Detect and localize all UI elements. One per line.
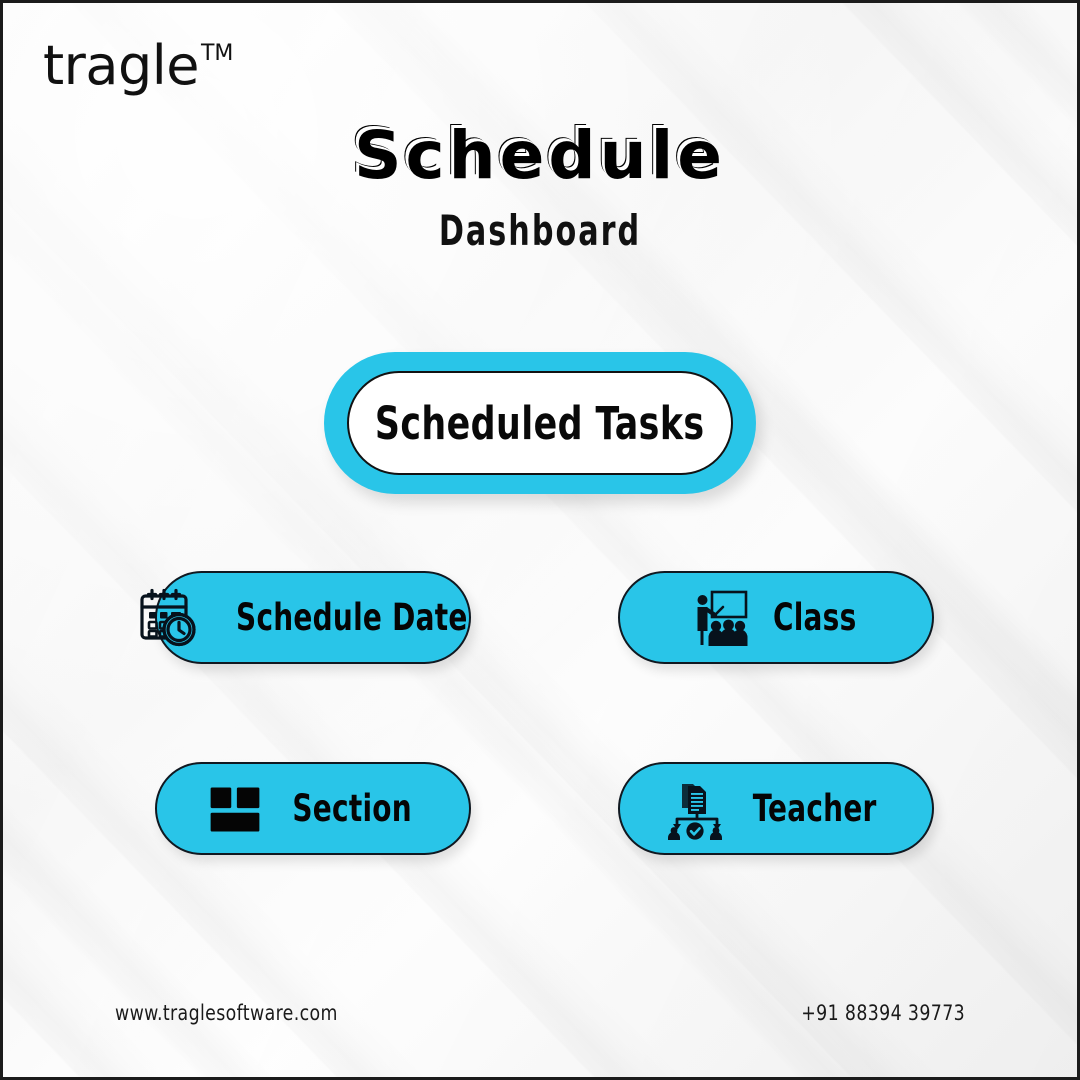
calendar-clock-icon — [136, 586, 200, 650]
option-label-section: Section — [292, 787, 412, 830]
scheduled-tasks-banner-inner: Scheduled Tasks — [347, 371, 733, 475]
poster-canvas: tragle TM Schedule Dashboard Scheduled T… — [0, 0, 1080, 1080]
option-label-schedule-date: Schedule Date — [236, 596, 467, 639]
scheduled-tasks-label: Scheduled Tasks — [375, 397, 705, 450]
brand-name: tragle — [43, 39, 199, 93]
page-title: Schedule — [3, 121, 1077, 190]
layout-grid-icon — [203, 777, 267, 841]
option-label-teacher: Teacher — [753, 787, 877, 830]
option-label-class: Class — [773, 596, 857, 639]
assignment-people-icon — [663, 777, 727, 841]
footer-phone[interactable]: +91 88394 39773 — [801, 1001, 965, 1025]
option-pill-grid: Schedule Date — [155, 571, 933, 855]
scheduled-tasks-banner[interactable]: Scheduled Tasks — [324, 352, 756, 494]
option-pill-section[interactable]: Section — [155, 762, 471, 855]
title-block: Schedule Dashboard — [3, 121, 1077, 255]
option-pill-teacher[interactable]: Teacher — [618, 762, 934, 855]
footer: www.traglesoftware.com +91 88394 39773 — [3, 1001, 1077, 1025]
footer-website[interactable]: www.traglesoftware.com — [115, 1001, 338, 1025]
classroom-teaching-icon — [687, 586, 751, 650]
option-pill-class[interactable]: Class — [618, 571, 934, 664]
trademark-symbol: TM — [201, 43, 233, 65]
brand-logo: tragle TM — [43, 39, 233, 93]
option-pill-schedule-date[interactable]: Schedule Date — [155, 571, 471, 664]
page-subtitle: Dashboard — [110, 206, 969, 255]
